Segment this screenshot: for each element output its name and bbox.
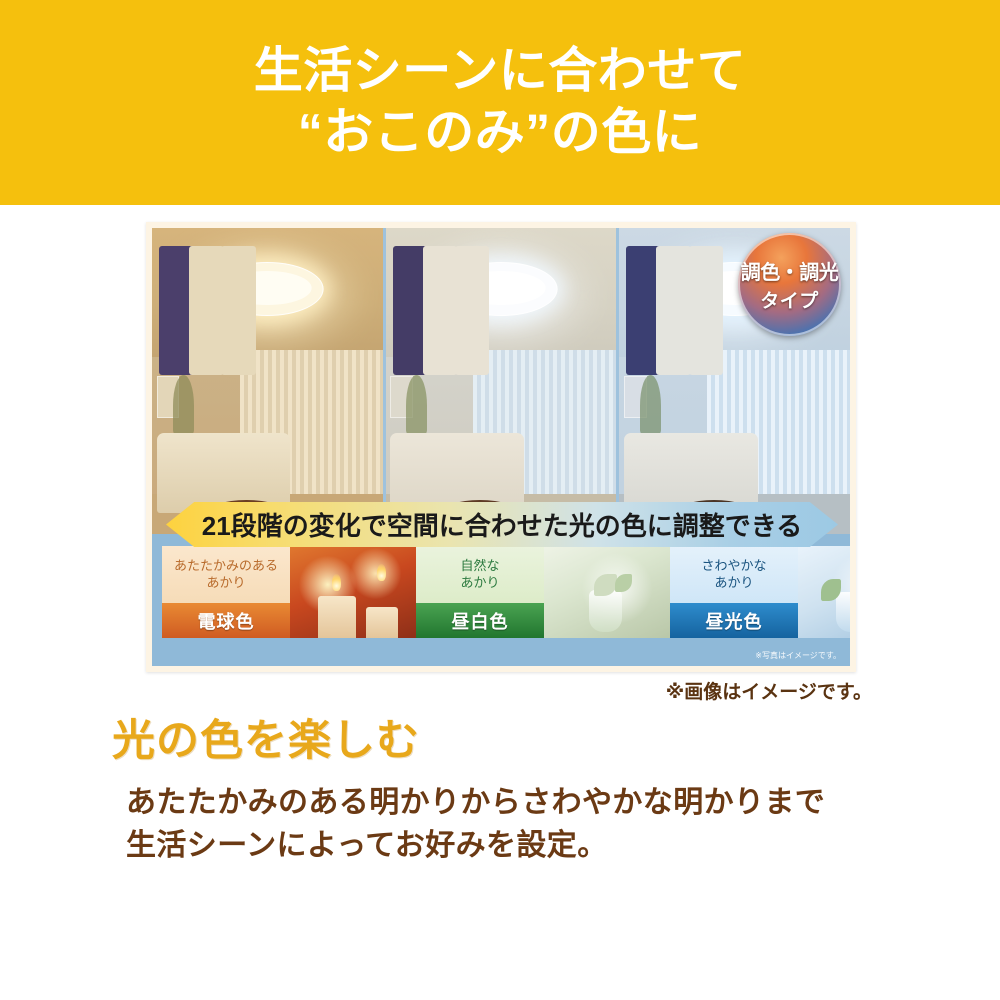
sofa: [157, 433, 291, 513]
swatch-desc-line1: 自然な: [460, 558, 499, 574]
swatch-photo-glass-flowers: [798, 546, 850, 638]
badge-label-line2: タイプ: [760, 286, 819, 313]
cushion: [656, 246, 691, 375]
glass-vase: [836, 592, 850, 632]
cushion-accent: [393, 246, 428, 375]
swatch-description-natural-white: 自然な あかり: [416, 546, 544, 603]
candle-flame: [332, 574, 341, 591]
swatch-pair-daylight: さわやかな あかり 昼光色: [670, 546, 850, 638]
header-banner: 生活シーンに合わせて “おこのみ”の色に: [0, 0, 1000, 205]
swatch-label-natural-white: 自然な あかり 昼白色: [416, 546, 544, 638]
room-panel-natural: [386, 228, 617, 534]
arrow-banner-text: 21段階の変化で空間に合わせた光の色に調整できる: [202, 506, 802, 543]
gradient-arrow-banner: 21段階の変化で空間に合わせた光の色に調整できる: [166, 502, 838, 547]
body-line-1: あたたかみのある明かりからさわやかな明かりまで: [126, 782, 825, 825]
sofa: [624, 433, 758, 513]
swatch-desc-line2: あかり: [206, 575, 245, 591]
swatch-chip-natural-white: 昼白色: [416, 603, 544, 638]
plant: [173, 375, 194, 436]
swatch-pair-bulb: あたたかみのある あかり 電球色: [162, 546, 416, 638]
swatch-photo-flowers-book: [544, 546, 670, 638]
cushion: [423, 246, 458, 375]
candle-flame: [377, 564, 386, 581]
swatch-pair-natural-white: 自然な あかり 昼白色: [416, 546, 670, 638]
room-panel-warm: [152, 228, 383, 534]
swatch-photo-candles: [290, 546, 416, 638]
header-title-line1: 生活シーンに合わせて: [254, 42, 747, 102]
swatch-label-bulb: あたたかみのある あかり 電球色: [162, 546, 290, 638]
leaf: [615, 574, 633, 592]
plant: [406, 375, 427, 436]
candle: [366, 607, 399, 638]
body-line-2: 生活シーンによってお好みを設定。: [126, 825, 825, 868]
swatch-chip-daylight: 昼光色: [670, 603, 798, 638]
section-body-text: あたたかみのある明かりからさわやかな明かりまで 生活シーンによってお好みを設定。: [126, 782, 825, 867]
cushion: [689, 246, 724, 375]
swatch-desc-line1: さわやかな: [701, 558, 766, 574]
header-title-line2: “おこのみ”の色に: [298, 102, 703, 163]
swatch-description-bulb: あたたかみのある あかり: [162, 546, 290, 603]
section-sub-heading: 光の色を楽しむ: [112, 706, 420, 768]
swatch-description-daylight: さわやかな あかり: [670, 546, 798, 603]
badge-label-line1: 調色・調光: [741, 256, 839, 285]
image-disclaimer-caption: ※画像はイメージです。: [666, 677, 872, 704]
cushion: [221, 246, 256, 375]
product-type-badge: 調色・調光 タイプ: [738, 233, 841, 336]
photo-inner-frame: 調色・調光 タイプ 21段階の変化で空間に合わせた光の色に調整できる あたたかみ…: [152, 228, 850, 666]
glass-vase: [589, 590, 622, 632]
plant: [640, 375, 661, 436]
cushion: [455, 246, 490, 375]
color-swatch-strip: あたたかみのある あかり 電球色 自然な あかり: [152, 538, 850, 656]
photo-disclaimer: ※写真はイメージです。: [755, 650, 841, 661]
cushion: [189, 246, 224, 375]
swatch-desc-line2: あかり: [460, 575, 499, 591]
product-photo-module: 調色・調光 タイプ 21段階の変化で空間に合わせた光の色に調整できる あたたかみ…: [146, 222, 856, 672]
swatch-desc-line2: あかり: [714, 575, 753, 591]
swatch-chip-bulb: 電球色: [162, 603, 290, 638]
swatch-desc-line1: あたたかみのある: [174, 558, 278, 574]
candle: [318, 596, 356, 638]
swatch-label-daylight: さわやかな あかり 昼光色: [670, 546, 798, 638]
sofa: [390, 433, 524, 513]
